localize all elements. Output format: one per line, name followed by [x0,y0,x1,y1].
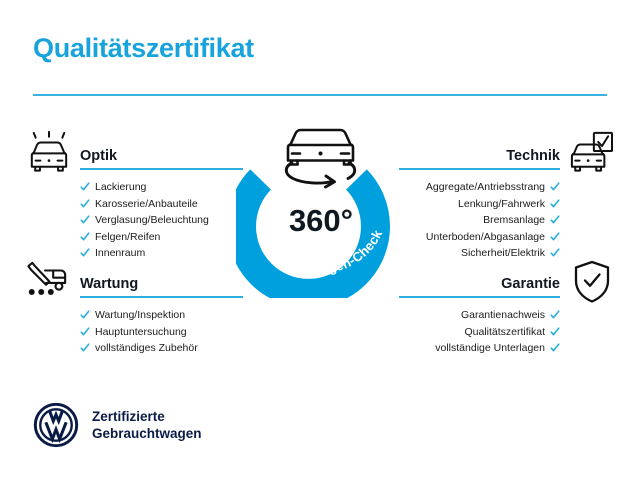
section-technik-heading: Technik [506,148,560,164]
section-optik-list: Lackierung Karosserie/Anbauteile Verglas… [80,179,240,262]
list-item-label: Qualitätszertifikat [464,324,545,341]
check-icon [550,310,560,320]
section-garantie-header: Garantie [400,268,560,298]
car-service-tool-icon [24,260,70,302]
list-item: Hauptuntersuchung [80,324,240,341]
badge-center-label: 360° [289,203,353,238]
section-technik-header: Technik [400,140,560,170]
car-rotate-icon [286,130,354,187]
page-title: Qualitätszertifikat [33,33,254,64]
list-item-label: Lenkung/Fahrwerk [458,196,545,213]
footer-line-2: Gebrauchtwagen [92,425,202,442]
list-item: Qualitätszertifikat [400,324,560,341]
list-item: Verglasung/Beleuchtung [80,212,240,229]
section-optik-heading: Optik [80,148,117,164]
section-garantie: Garantie Garantienachweis Qualitätszerti… [400,268,560,357]
check-icon [80,248,90,258]
list-item-label: Verglasung/Beleuchtung [95,212,209,229]
section-garantie-heading: Garantie [501,276,560,292]
section-wartung-header: Wartung [80,268,240,298]
shield-check-icon [572,260,612,304]
list-item: Lenkung/Fahrwerk [400,196,560,213]
title-divider [33,94,607,96]
list-item: vollständiges Zubehör [80,340,240,357]
section-garantie-divider [399,296,560,298]
check-icon [80,327,90,337]
section-wartung-divider [80,296,243,298]
check-icon [550,248,560,258]
certificate-page: Qualitätszertifikat Optik Lackierung [0,0,640,480]
check-icon [80,215,90,225]
section-technik: Technik Aggregate/Antriebsstrang Lenkung… [400,140,560,262]
section-wartung: Wartung Wartung/Inspektion Hauptuntersuc… [80,268,240,357]
list-item-label: Bremsanlage [483,212,545,229]
list-item-label: vollständige Unterlagen [435,340,545,357]
list-item: Felgen/Reifen [80,229,240,246]
list-item: Karosserie/Anbauteile [80,196,240,213]
section-wartung-list: Wartung/Inspektion Hauptuntersuchung vol… [80,307,240,357]
check-icon [550,199,560,209]
list-item: vollständige Unterlagen [400,340,560,357]
section-garantie-list: Garantienachweis Qualitätszertifikat vol… [400,307,560,357]
list-item-label: Aggregate/Antriebsstrang [426,179,545,196]
list-item-label: Hauptuntersuchung [95,324,187,341]
section-optik-divider [80,168,243,170]
check-icon [80,310,90,320]
section-optik-header: Optik [80,140,240,170]
list-item: Aggregate/Antriebsstrang [400,179,560,196]
list-item: Unterboden/Abgasanlage [400,229,560,246]
list-item: Bremsanlage [400,212,560,229]
list-item-label: Lackierung [95,179,146,196]
car-shine-icon [26,131,72,173]
footer-brand: Zertifizierte Gebrauchtwagen [33,402,202,448]
check-icon [550,343,560,353]
list-item: Innenraum [80,245,240,262]
list-item-label: vollständiges Zubehör [95,340,198,357]
section-optik: Optik Lackierung Karosserie/Anbauteile V… [80,140,240,262]
check-icon [550,182,560,192]
check-icon [80,182,90,192]
check-icon [550,232,560,242]
car-checkbox-icon [568,131,614,173]
list-item-label: Innenraum [95,245,145,262]
footer-line-1: Zertifizierte [92,408,202,425]
section-technik-divider [399,168,560,170]
list-item-label: Garantienachweis [461,307,545,324]
check-icon [550,215,560,225]
check-icon [80,199,90,209]
list-item-label: Felgen/Reifen [95,229,160,246]
check-icon [80,232,90,242]
section-technik-list: Aggregate/Antriebsstrang Lenkung/Fahrwer… [400,179,560,262]
check-icon [550,327,560,337]
list-item: Garantienachweis [400,307,560,324]
list-item: Wartung/Inspektion [80,307,240,324]
list-item: Sicherheit/Elektrik [400,245,560,262]
list-item-label: Karosserie/Anbauteile [95,196,198,213]
list-item-label: Unterboden/Abgasanlage [426,229,545,246]
footer-text: Zertifizierte Gebrauchtwagen [92,408,202,442]
list-item: Lackierung [80,179,240,196]
list-item-label: Sicherheit/Elektrik [461,245,545,262]
section-wartung-heading: Wartung [80,276,138,292]
check-icon [80,343,90,353]
volkswagen-logo [33,402,79,448]
badge-360-gebrauchtwagen-check: 360° Gebrauchtwagen-Check [236,118,406,298]
list-item-label: Wartung/Inspektion [95,307,185,324]
